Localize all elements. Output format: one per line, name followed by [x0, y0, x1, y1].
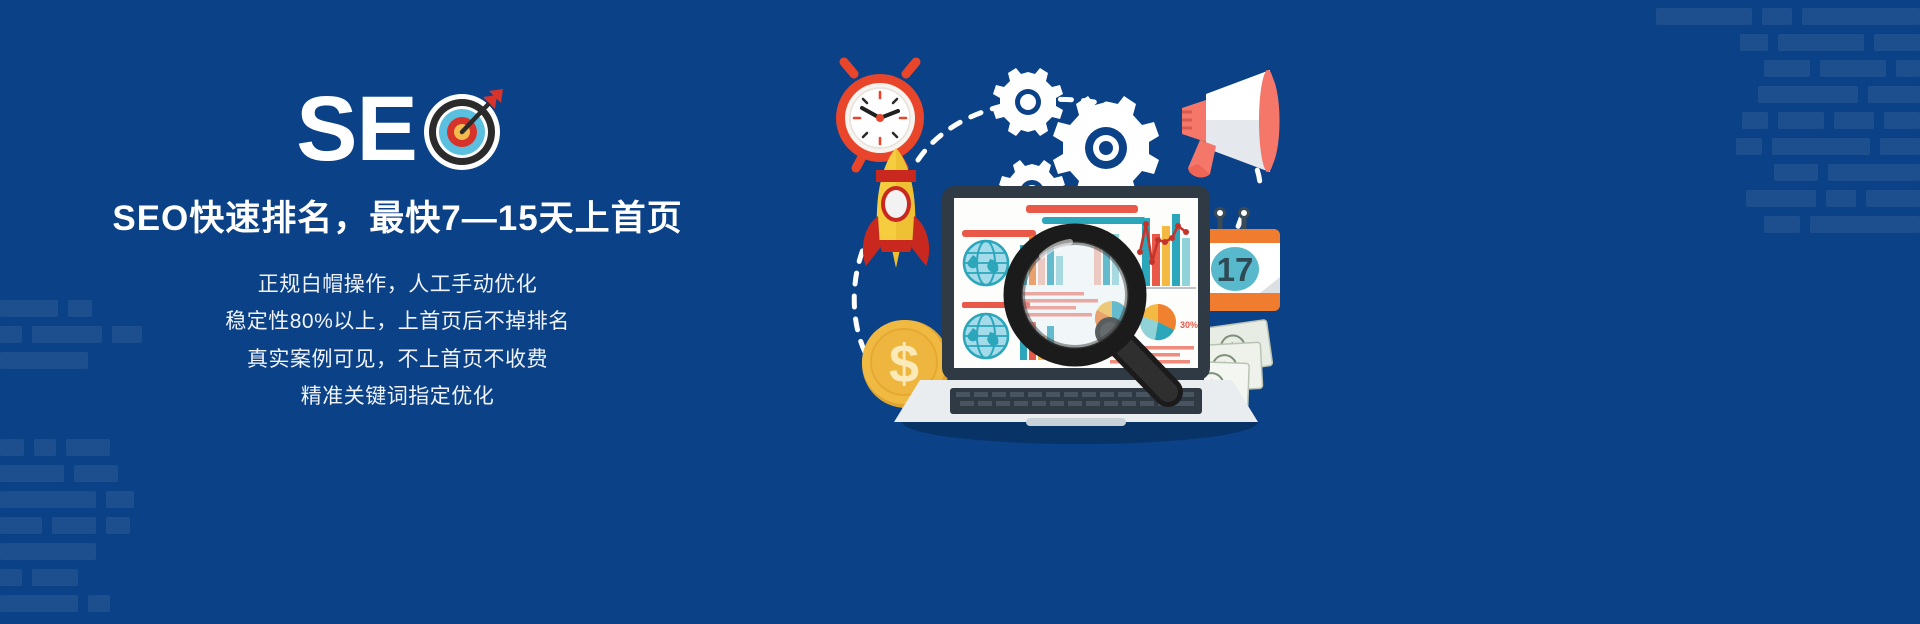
seo-logo-letters: SE: [296, 86, 417, 172]
bullseye-target-icon: [419, 85, 507, 173]
promo-bullet-1: 正规白帽操作，人工手动优化: [0, 266, 795, 303]
seo-promo-banner: SE SEO快速排名，最快7—15天上首页 正规白帽操作，人工手动优化 稳定性8…: [0, 0, 1920, 624]
alarm-clock-icon: [836, 62, 924, 168]
promo-bullet-2: 稳定性80%以上，上首页后不掉排名: [0, 303, 795, 340]
rocket-icon: [863, 148, 929, 268]
seo-illustration: 17 $ $ $: [810, 40, 1370, 600]
pie-chart-percent: [1140, 304, 1176, 340]
promo-bullet-4: 精准关键词指定优化: [0, 378, 795, 415]
megaphone-icon: [1182, 70, 1280, 177]
promo-bullet-list: 正规白帽操作，人工手动优化 稳定性80%以上，上首页后不掉排名 真实案例可见，不…: [0, 266, 795, 416]
page-title: SEO快速排名，最快7—15天上首页: [0, 198, 795, 240]
seo-logo: SE: [8, 86, 795, 172]
decor-code-lines-top-right: [1656, 8, 1920, 233]
promo-text-column: SE SEO快速排名，最快7—15天上首页 正规白帽操作，人工手动优化 稳定性8…: [0, 86, 795, 416]
decor-code-lines-bottom-left: [0, 439, 134, 612]
coin-dollar-symbol: $: [889, 334, 919, 394]
promo-bullet-3: 真实案例可见，不上首页不收费: [0, 341, 795, 378]
chart-percent-label: 30%: [1180, 320, 1198, 330]
calendar-day-number: 17: [1217, 251, 1254, 288]
